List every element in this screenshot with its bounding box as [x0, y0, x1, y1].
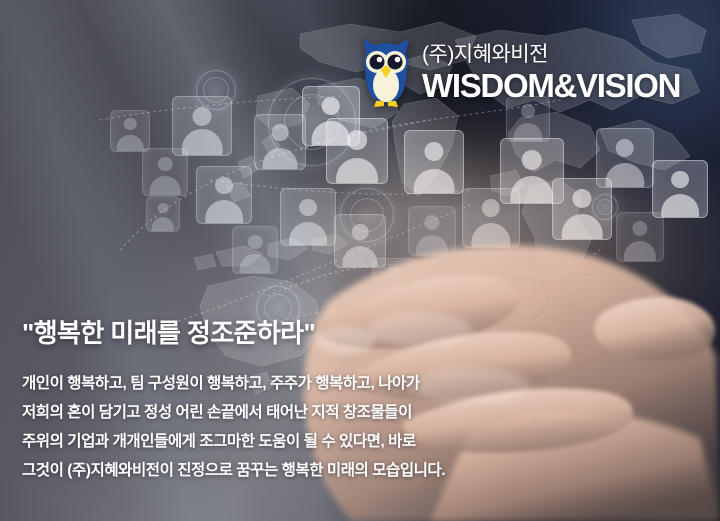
glow-ring-node	[196, 70, 236, 110]
body-line: 주위의 기업과 개개인들에게 조그마한 도움이 될 수 있다면, 바로	[22, 427, 662, 456]
owl-icon	[358, 33, 414, 113]
body-line: 개인이 행복하고, 팀 구성원이 행복하고, 주주가 행복하고, 나아가	[22, 369, 662, 398]
hero-banner: (주)지혜와비전 WISDOM&VISION "행복한 미래를 정조준하라" 개…	[0, 0, 720, 521]
body-line: 저희의 혼이 담기고 정성 어린 손끝에서 태어난 지적 창조물들이	[22, 398, 662, 427]
copy-block: "행복한 미래를 정조준하라" 개인이 행복하고, 팀 구성원이 행복하고, 주…	[22, 313, 662, 485]
glow-ring-node	[592, 194, 618, 220]
brand-korean-name: (주)지혜와비전	[422, 42, 680, 68]
brand-text: (주)지혜와비전 WISDOM&VISION	[422, 42, 680, 104]
page-title: "행복한 미래를 정조준하라"	[22, 313, 662, 350]
brand-english-name: WISDOM&VISION	[422, 68, 680, 104]
glow-ring-node	[268, 78, 356, 166]
glow-ring-node	[340, 188, 394, 242]
body-line: 그것이 (주)지혜와비전이 진정으로 꿈꾸는 행복한 미래의 모습입니다.	[22, 456, 662, 485]
brand-logo[interactable]: (주)지혜와비전 WISDOM&VISION	[358, 33, 680, 113]
glow-ring-node	[574, 270, 606, 302]
